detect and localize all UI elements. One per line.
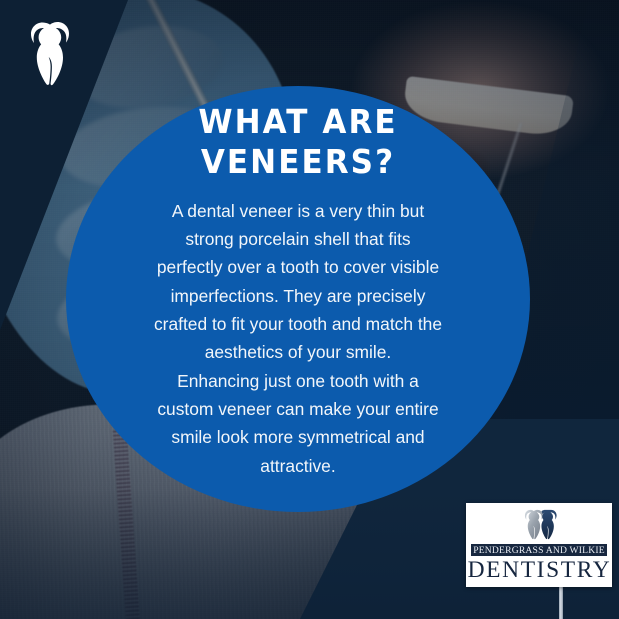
body-line: crafted to fit your tooth and match the: [122, 310, 474, 338]
practice-logo-card: PENDERGRASS AND WILKIE DENTISTRY: [466, 503, 612, 587]
body-line: imperfections. They are precisely: [122, 282, 474, 310]
body-line: custom veneer can make your entire: [122, 395, 474, 423]
tooth-logo-icon: [519, 508, 559, 541]
body-line: strong porcelain shell that fits: [122, 225, 474, 253]
tooth-logo-icon: [22, 16, 82, 88]
body-line: aesthetics of your smile.: [122, 338, 474, 366]
body-line: perfectly over a tooth to cover visible: [122, 253, 474, 281]
circle-content: WHAT ARE VENEERS? A dental veneer is a v…: [66, 86, 530, 512]
page-title: WHAT ARE VENEERS?: [143, 102, 453, 183]
body-line: A dental veneer is a very thin but: [122, 197, 474, 225]
body-line: attractive.: [122, 452, 474, 480]
body-line: Enhancing just one tooth with a: [122, 367, 474, 395]
body-line: smile look more symmetrical and: [122, 423, 474, 451]
body-copy: A dental veneer is a very thin but stron…: [122, 197, 474, 481]
headline-line-1: WHAT ARE: [143, 102, 453, 142]
practice-name-band: PENDERGRASS AND WILKIE: [471, 544, 607, 556]
infographic-canvas: WHAT ARE VENEERS? A dental veneer is a v…: [0, 0, 619, 619]
headline-line-2: VENEERS?: [143, 142, 453, 182]
practice-category: DENTISTRY: [467, 557, 611, 582]
